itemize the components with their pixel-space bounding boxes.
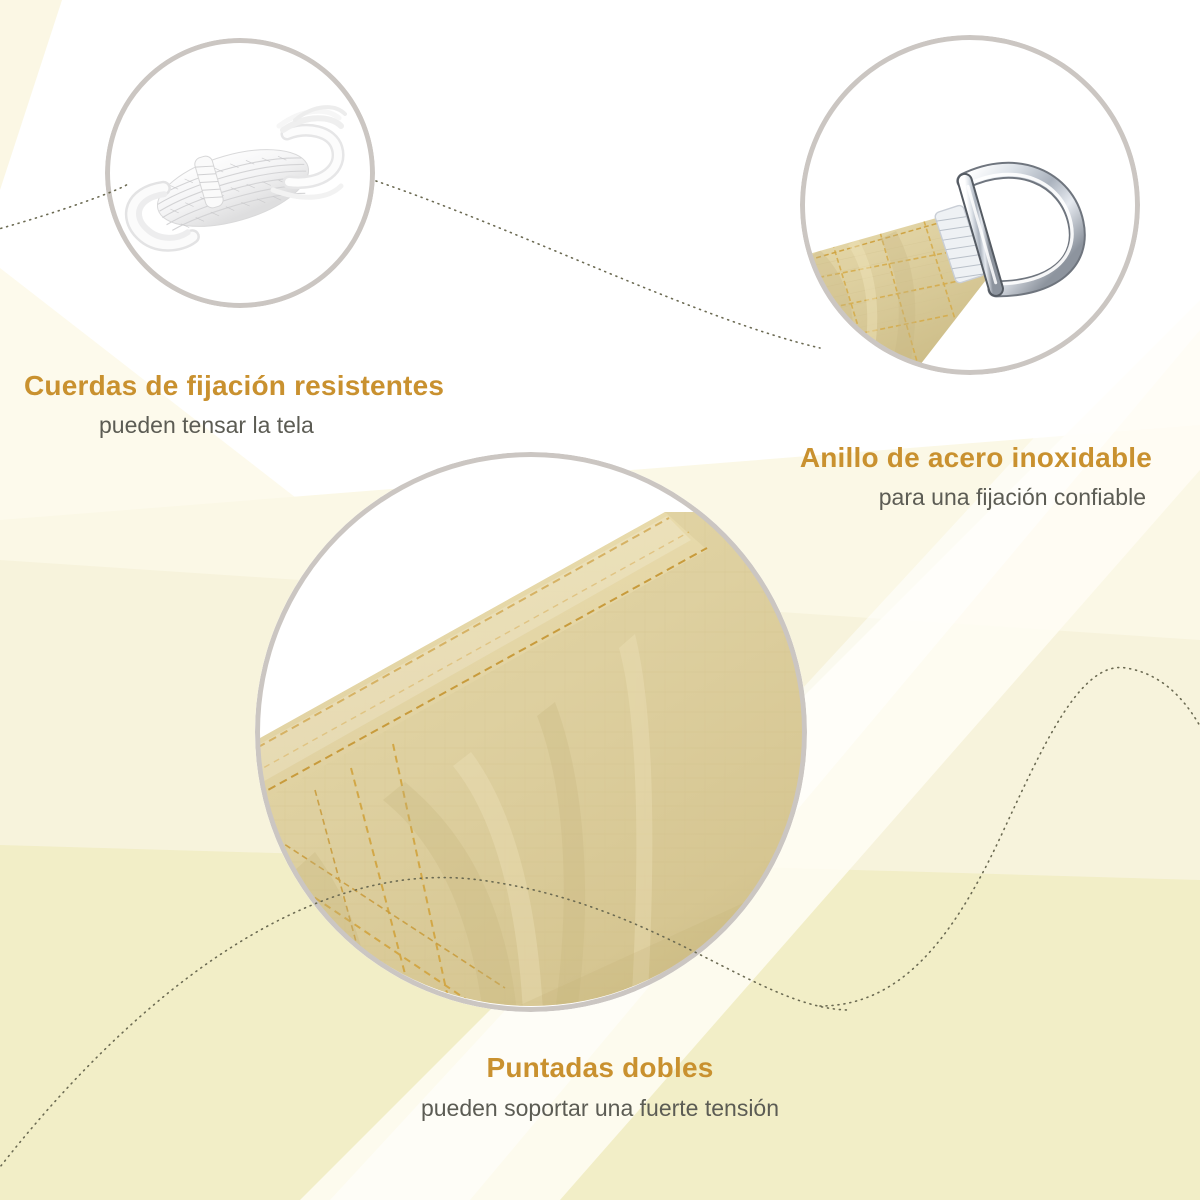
feature-circle-rope[interactable]: [105, 38, 375, 308]
coiled-white-rope-photo: [105, 38, 375, 308]
feature-title-dring: Anillo de acero inoxidable: [800, 442, 1152, 474]
feature-circle-stitching[interactable]: [255, 452, 807, 1012]
stainless-steel-d-ring-on-fabric-corner-photo: [800, 35, 1140, 375]
feature-subtitle-rope: pueden tensar la tela: [99, 412, 444, 439]
feature-subtitle-dring: para una fijación confiable: [800, 484, 1146, 511]
feature-text-stitching: Puntadas dobles pueden soportar una fuer…: [0, 1052, 1200, 1122]
feature-circle-dring[interactable]: [800, 35, 1140, 375]
feature-title-stitching: Puntadas dobles: [0, 1052, 1200, 1084]
feature-title-rope: Cuerdas de fijación resistentes: [24, 370, 444, 402]
infographic-canvas: Cuerdas de fijación resistentes pueden t…: [0, 0, 1200, 1200]
feature-text-rope: Cuerdas de fijación resistentes pueden t…: [24, 370, 444, 439]
feature-text-dring: Anillo de acero inoxidable para una fija…: [800, 442, 1152, 511]
double-stitched-sail-fabric-hem-photo: [255, 452, 807, 1012]
feature-subtitle-stitching: pueden soportar una fuerte tensión: [0, 1095, 1200, 1122]
